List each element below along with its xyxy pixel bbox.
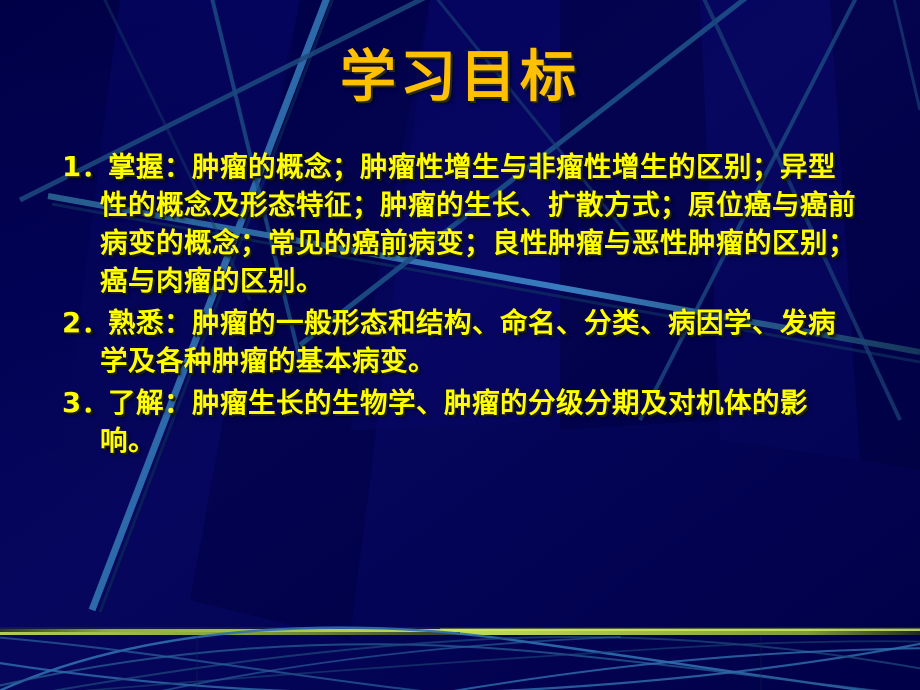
list-item-marker: 1． bbox=[62, 148, 110, 186]
slide-content: 学习目标 1．掌握：肿瘤的概念；肿瘤性增生与非瘤性增生的区别；异型性的概念及形态… bbox=[0, 0, 920, 690]
page-title: 学习目标 bbox=[0, 48, 920, 108]
goals-list: 1．掌握：肿瘤的概念；肿瘤性增生与非瘤性增生的区别；异型性的概念及形态特征；肿瘤… bbox=[62, 148, 862, 460]
list-item-text: 掌握：肿瘤的概念；肿瘤性增生与非瘤性增生的区别；异型性的概念及形态特征；肿瘤的生… bbox=[100, 151, 856, 297]
list-item: 3．了解：肿瘤生长的生物学、肿瘤的分级分期及对机体的影响。 bbox=[62, 384, 862, 460]
presentation-slide: 学习目标 1．掌握：肿瘤的概念；肿瘤性增生与非瘤性增生的区别；异型性的概念及形态… bbox=[0, 0, 920, 690]
list-item-marker: 2． bbox=[62, 304, 110, 342]
list-item-marker: 3． bbox=[62, 384, 110, 422]
list-item-text: 了解：肿瘤生长的生物学、肿瘤的分级分期及对机体的影响。 bbox=[100, 387, 808, 457]
list-item: 1．掌握：肿瘤的概念；肿瘤性增生与非瘤性增生的区别；异型性的概念及形态特征；肿瘤… bbox=[62, 148, 862, 300]
list-item: 2．熟悉：肿瘤的一般形态和结构、命名、分类、病因学、发病学及各种肿瘤的基本病变。 bbox=[62, 304, 862, 380]
list-item-text: 熟悉：肿瘤的一般形态和结构、命名、分类、病因学、发病学及各种肿瘤的基本病变。 bbox=[100, 307, 836, 377]
